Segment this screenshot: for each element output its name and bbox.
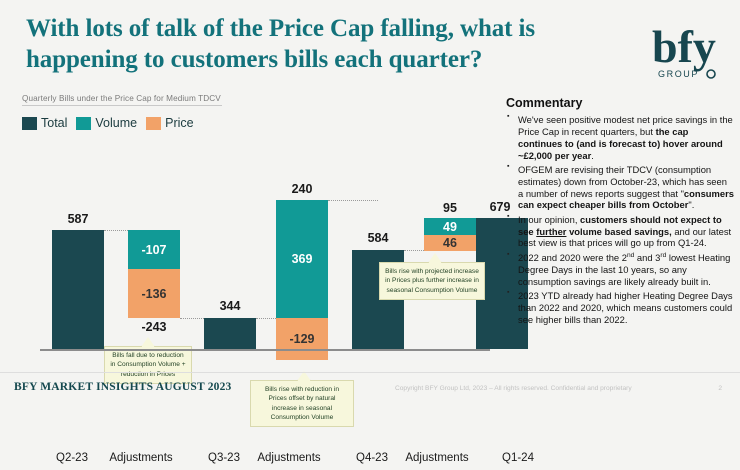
bfy-logo: bfy GROUP — [648, 12, 724, 84]
bar-label-q2-23: 587 — [48, 212, 108, 226]
commentary-panel: Commentary We've seen positive modest ne… — [506, 96, 734, 328]
page-title: With lots of talk of the Price Cap falli… — [26, 14, 636, 75]
bar-label-q3-23: 344 — [200, 299, 260, 313]
chart-plot-area: 587 -107 -136 -243 344 240 369 — [22, 94, 490, 352]
footer-page-number: 2 — [718, 385, 722, 392]
chart-x-labels: Q2-23 Adjustments Q3-23 Adjustments Q4-2… — [40, 452, 490, 470]
bar-adj3-price[interactable]: 46 — [424, 235, 476, 251]
bar-value-adj1-price: -136 — [128, 287, 180, 301]
footer-copyright: Copyright BFY Group Ltd, 2023 – All righ… — [395, 385, 632, 392]
commentary-bullet-5: 2023 YTD already had higher Heating Degr… — [506, 290, 734, 326]
bar-q3-23[interactable] — [204, 318, 256, 349]
callout-adjustment-2: Bills rise with reduction in Prices offs… — [250, 380, 354, 427]
footer-brand: BFY MARKET INSIGHTS AUGUST 2023 — [14, 381, 232, 393]
commentary-heading: Commentary — [506, 96, 734, 110]
bar-value-adj3-volume: 49 — [424, 220, 476, 234]
commentary-bullet-4: 2022 and 2020 were the 2nd and 3rd lowes… — [506, 252, 734, 288]
bar-value-adj2-price: -129 — [276, 332, 328, 346]
svg-text:bfy: bfy — [652, 21, 716, 72]
bar-adj3-volume[interactable]: 49 — [424, 218, 476, 235]
bar-label-adj1-net: -243 — [120, 320, 188, 334]
callout-text-3: Bills rise with projected increase in Pr… — [385, 268, 479, 294]
bar-adj2-price[interactable]: -129 — [276, 318, 328, 360]
commentary-bullet-3: In our opinion, customers should not exp… — [506, 214, 734, 250]
slide-canvas: With lots of talk of the Price Cap falli… — [0, 0, 740, 416]
bar-label-adj2-top: 240 — [272, 182, 332, 196]
bfy-logo-icon: bfy GROUP — [648, 12, 724, 84]
connector-4 — [328, 200, 378, 201]
chart-container: Quarterly Bills under the Price Cap for … — [22, 94, 490, 386]
callout-text-1: Bills fall due to reduction in Consumpti… — [110, 352, 185, 378]
svg-text:GROUP: GROUP — [658, 69, 699, 79]
footer-divider — [0, 372, 740, 373]
callout-adjustment-3: Bills rise with projected increase in Pr… — [379, 262, 485, 300]
bar-adj1-price[interactable]: -136 — [128, 269, 180, 318]
bar-value-adj2-volume: 369 — [276, 252, 328, 266]
x-label-adjustments-1: Adjustments — [96, 452, 186, 464]
x-label-adjustments-2: Adjustments — [244, 452, 334, 464]
bar-value-adj1-volume: -107 — [128, 243, 180, 257]
bar-value-adj3-price: 46 — [424, 236, 476, 250]
commentary-bullet-2: OFGEM are revising their TDCV (consumpti… — [506, 164, 734, 211]
x-label-q1-24: Q1-24 — [480, 452, 556, 464]
x-label-adjustments-3: Adjustments — [392, 452, 482, 464]
bar-adj2-volume[interactable]: 369 — [276, 200, 328, 318]
chart-x-axis — [40, 349, 490, 351]
callout-adjustment-1: Bills fall due to reduction in Consumpti… — [104, 346, 192, 384]
bar-q2-23[interactable] — [52, 230, 104, 349]
commentary-bullet-1: We've seen positive modest net price sav… — [506, 114, 734, 161]
bar-adj1-volume[interactable]: -107 — [128, 230, 180, 269]
commentary-list: We've seen positive modest net price sav… — [506, 114, 734, 325]
bar-label-q4-23: 584 — [348, 231, 408, 245]
